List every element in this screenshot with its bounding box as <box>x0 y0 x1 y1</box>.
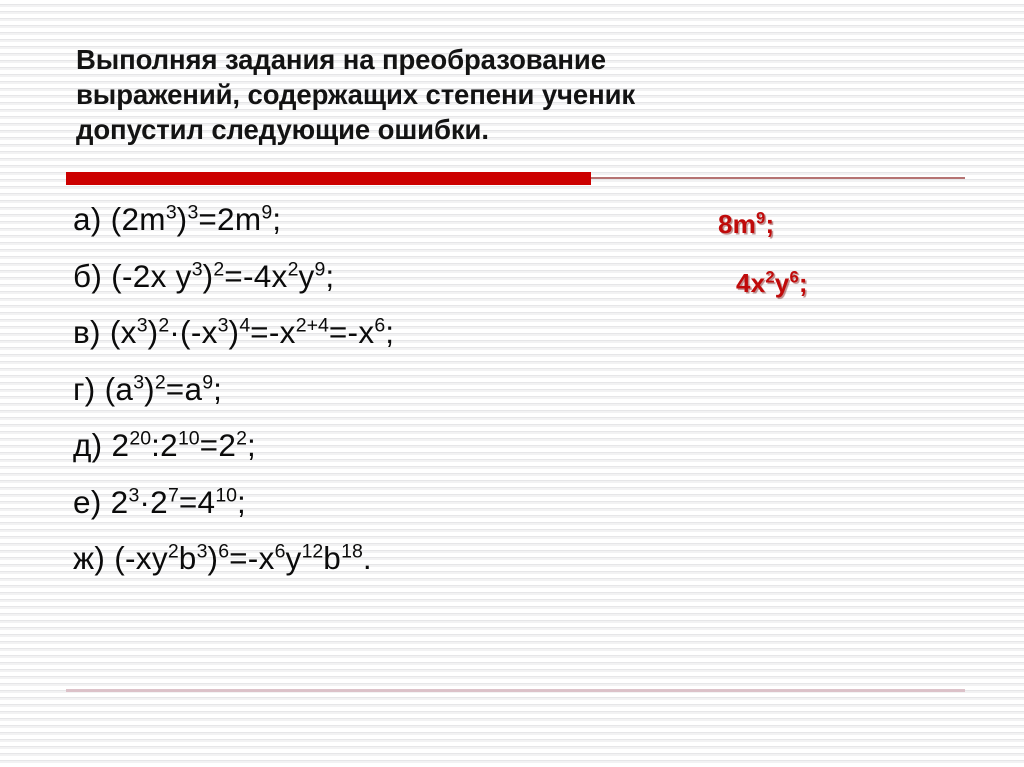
correction-annotation-a: 8m9; <box>718 209 774 240</box>
list-item: б) (-2x y3)2=-4x2y9; <box>73 256 693 313</box>
correction-annotation-b: 4x2y6; <box>736 268 808 299</box>
math-expression-zh: ж) (-xy2b3)6=-x6y12b18. <box>73 538 693 579</box>
page-title-line-3: допустил следующие ошибки. <box>76 112 676 147</box>
math-expression-b: б) (-2x y3)2=-4x2y9; <box>73 256 693 297</box>
list-item: е) 23·27=410; <box>73 482 693 539</box>
math-expression-a: а) (2m3)3=2m9; <box>73 199 693 240</box>
page-title-line-1: Выполняя задания на преобразование <box>76 42 676 77</box>
list-item: в) (x3)2·(-x3)4=-x2+4=-x6; <box>73 312 693 369</box>
presentation-slide: Выполняя задания на преобразование выраж… <box>0 0 1024 767</box>
list-item: ж) (-xy2b3)6=-x6y12b18. <box>73 538 693 595</box>
page-title: Выполняя задания на преобразование выраж… <box>76 42 676 147</box>
list-item: а) (2m3)3=2m9; <box>73 199 693 256</box>
list-item: г) (a3)2=a9; <box>73 369 693 426</box>
math-expression-d: д) 220:210=22; <box>73 425 693 466</box>
math-expression-e: е) 23·27=410; <box>73 482 693 523</box>
math-expression-list: а) (2m3)3=2m9; б) (-2x y3)2=-4x2y9; в) (… <box>73 199 693 595</box>
footer-rule <box>66 689 965 692</box>
math-expression-g: г) (a3)2=a9; <box>73 369 693 410</box>
title-underline-red-bar <box>66 172 591 185</box>
math-expression-v: в) (x3)2·(-x3)4=-x2+4=-x6; <box>73 312 693 353</box>
list-item: д) 220:210=22; <box>73 425 693 482</box>
page-title-line-2: выражений, содержащих степени ученик <box>76 77 676 112</box>
